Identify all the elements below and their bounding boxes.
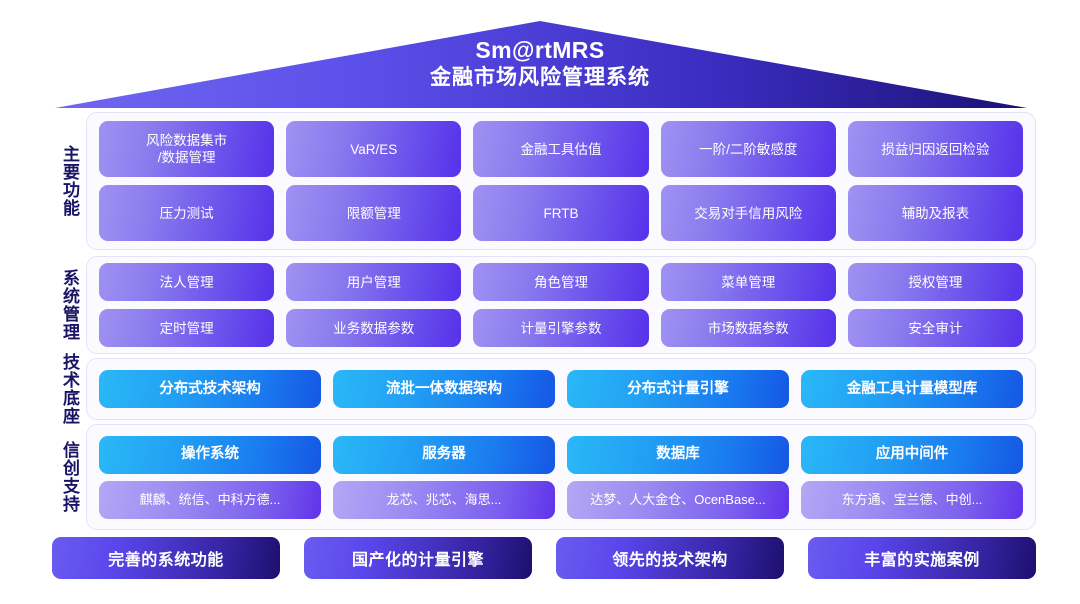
panel-xinchuang: 操作系统 服务器 数据库 应用中间件 麒麟、统信、中科方德... 龙芯、兆芯、海… (86, 424, 1036, 530)
band-label-xinchuang: 信创支持 (52, 424, 86, 530)
tech-pill[interactable]: 金融工具计量模型库 (801, 370, 1023, 408)
pill-row: 风险数据集市 /数据管理 VaR/ES 金融工具估值 一阶/二阶敏感度 损益归因… (99, 121, 1023, 177)
tech-pill[interactable]: 分布式技术架构 (99, 370, 321, 408)
panel-system: 法人管理 用户管理 角色管理 菜单管理 授权管理 定时管理 业务数据参数 计量引… (86, 256, 1036, 354)
system-pill[interactable]: 计量引擎参数 (473, 309, 648, 347)
highlight-badge[interactable]: 丰富的实施案例 (808, 537, 1036, 579)
xinchuang-category-pill[interactable]: 操作系统 (99, 436, 321, 474)
highlight-badge[interactable]: 国产化的计量引擎 (304, 537, 532, 579)
tech-pill[interactable]: 流批一体数据架构 (333, 370, 555, 408)
panel-tech: 分布式技术架构 流批一体数据架构 分布式计量引擎 金融工具计量模型库 (86, 358, 1036, 420)
xinchuang-category-pill[interactable]: 数据库 (567, 436, 789, 474)
system-pill[interactable]: 角色管理 (473, 263, 648, 301)
system-pill[interactable]: 授权管理 (848, 263, 1023, 301)
highlight-badge[interactable]: 完善的系统功能 (52, 537, 280, 579)
pill-row: 法人管理 用户管理 角色管理 菜单管理 授权管理 (99, 263, 1023, 301)
function-pill[interactable]: 金融工具估值 (473, 121, 648, 177)
band-system: 系统管理 法人管理 用户管理 角色管理 菜单管理 授权管理 定时管理 业务数据参… (52, 256, 1036, 354)
pill-row: 分布式技术架构 流批一体数据架构 分布式计量引擎 金融工具计量模型库 (99, 370, 1023, 408)
pill-row: 麒麟、统信、中科方德... 龙芯、兆芯、海思... 达梦、人大金仓、OcenBa… (99, 481, 1023, 519)
pill-row: 压力测试 限额管理 FRTB 交易对手信用风险 辅助及报表 (99, 185, 1023, 241)
function-pill[interactable]: FRTB (473, 185, 648, 241)
highlight-badge[interactable]: 领先的技术架构 (556, 537, 784, 579)
system-pill[interactable]: 市场数据参数 (661, 309, 836, 347)
xinchuang-category-pill[interactable]: 应用中间件 (801, 436, 1023, 474)
system-pill[interactable]: 用户管理 (286, 263, 461, 301)
xinchuang-category-pill[interactable]: 服务器 (333, 436, 555, 474)
band-label-system: 系统管理 (52, 256, 86, 354)
function-pill[interactable]: 辅助及报表 (848, 185, 1023, 241)
xinchuang-vendor-pill[interactable]: 东方通、宝兰德、中创... (801, 481, 1023, 519)
function-pill[interactable]: 压力测试 (99, 185, 274, 241)
function-pill[interactable]: VaR/ES (286, 121, 461, 177)
panel-functions: 风险数据集市 /数据管理 VaR/ES 金融工具估值 一阶/二阶敏感度 损益归因… (86, 112, 1036, 250)
function-pill[interactable]: 风险数据集市 /数据管理 (99, 121, 274, 177)
pill-row: 操作系统 服务器 数据库 应用中间件 (99, 436, 1023, 474)
pill-row: 定时管理 业务数据参数 计量引擎参数 市场数据参数 安全审计 (99, 309, 1023, 347)
xinchuang-vendor-pill[interactable]: 达梦、人大金仓、OcenBase... (567, 481, 789, 519)
band-functions: 主要功能 风险数据集市 /数据管理 VaR/ES 金融工具估值 一阶/二阶敏感度… (52, 112, 1036, 250)
function-pill[interactable]: 损益归因返回检验 (848, 121, 1023, 177)
band-tech: 技术底座 分布式技术架构 流批一体数据架构 分布式计量引擎 金融工具计量模型库 (52, 358, 1036, 420)
band-label-tech: 技术底座 (52, 358, 86, 420)
function-pill[interactable]: 限额管理 (286, 185, 461, 241)
roof-shape (0, 0, 1080, 112)
tech-pill[interactable]: 分布式计量引擎 (567, 370, 789, 408)
system-pill[interactable]: 定时管理 (99, 309, 274, 347)
system-pill[interactable]: 法人管理 (99, 263, 274, 301)
system-pill[interactable]: 安全审计 (848, 309, 1023, 347)
header-roof: Sm@rtMRS 金融市场风险管理系统 (0, 0, 1080, 112)
system-pill[interactable]: 业务数据参数 (286, 309, 461, 347)
function-pill[interactable]: 一阶/二阶敏感度 (661, 121, 836, 177)
band-xinchuang: 信创支持 操作系统 服务器 数据库 应用中间件 麒麟、统信、中科方德... 龙芯… (52, 424, 1036, 530)
band-label-functions: 主要功能 (52, 112, 86, 250)
system-pill[interactable]: 菜单管理 (661, 263, 836, 301)
bottom-badges: 完善的系统功能 国产化的计量引擎 领先的技术架构 丰富的实施案例 (52, 537, 1036, 579)
xinchuang-vendor-pill[interactable]: 麒麟、统信、中科方德... (99, 481, 321, 519)
xinchuang-vendor-pill[interactable]: 龙芯、兆芯、海思... (333, 481, 555, 519)
function-pill[interactable]: 交易对手信用风险 (661, 185, 836, 241)
